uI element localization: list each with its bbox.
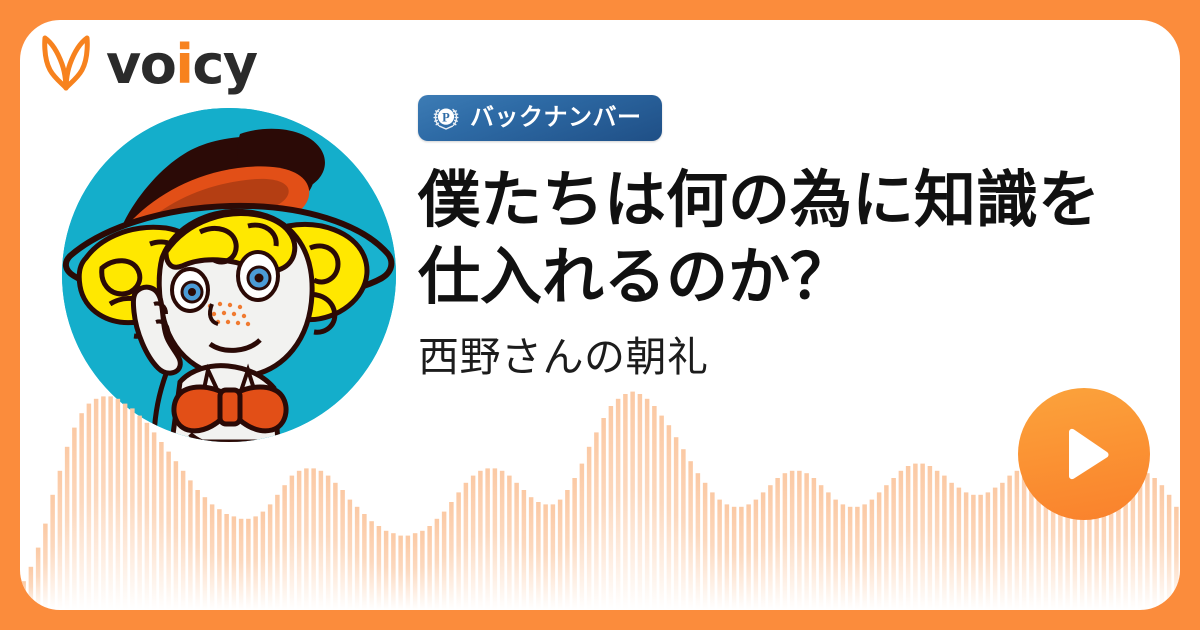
premium-laurel-p-icon: P (432, 104, 460, 132)
status-badge[interactable]: P バックナンバー (418, 95, 662, 141)
audio-waveform (20, 370, 1180, 610)
voicy-wordmark: voicy (106, 38, 257, 92)
badge-label: バックナンバー (470, 106, 642, 130)
svg-text:P: P (442, 110, 450, 124)
play-triangle-icon (1065, 428, 1111, 480)
episode-meta: P バックナンバー 僕たちは何の為に知識を仕入れるのか？ 西野さんの朝礼 (418, 95, 1158, 382)
voicy-leaf-logo-icon (40, 35, 92, 91)
card-inner-panel: voicy (20, 20, 1180, 610)
voicy-logo[interactable]: voicy (40, 28, 257, 98)
play-button[interactable] (1018, 388, 1150, 520)
episode-title: 僕たちは何の為に知識を仕入れるのか？ (418, 163, 1138, 317)
voicy-share-card: voicy (0, 0, 1200, 630)
